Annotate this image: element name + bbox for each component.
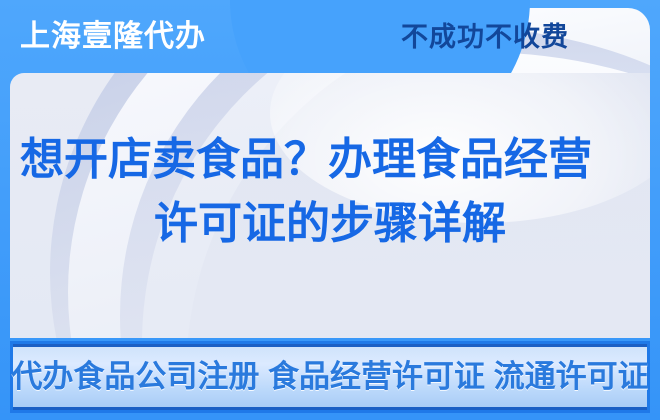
keywords-bar-frame: 代办食品公司注册 食品经营许可证 流通许可证: [10, 341, 650, 413]
right-blue-edge: [650, 0, 660, 420]
keywords-text: 代办食品公司注册 食品经营许可证 流通许可证: [11, 357, 648, 397]
brand-name: 上海壹隆代办: [20, 18, 206, 56]
keywords-bar: 代办食品公司注册 食品经营许可证 流通许可证: [13, 344, 647, 410]
bottom-blue-edge: [0, 413, 660, 420]
headline: 想开店卖食品？办理食品经营 许可证的步骤详解: [10, 128, 650, 256]
promo-banner: 上海壹隆代办 不成功不收费 想开店卖食品？办理食品经营 许可证的步骤详解 代办食…: [0, 0, 660, 420]
left-blue-edge: [0, 0, 10, 420]
slogan-text: 不成功不收费: [330, 18, 640, 56]
headline-line-1: 想开店卖食品？办理食品经营: [10, 128, 650, 192]
headline-line-2: 许可证的步骤详解: [10, 192, 650, 256]
